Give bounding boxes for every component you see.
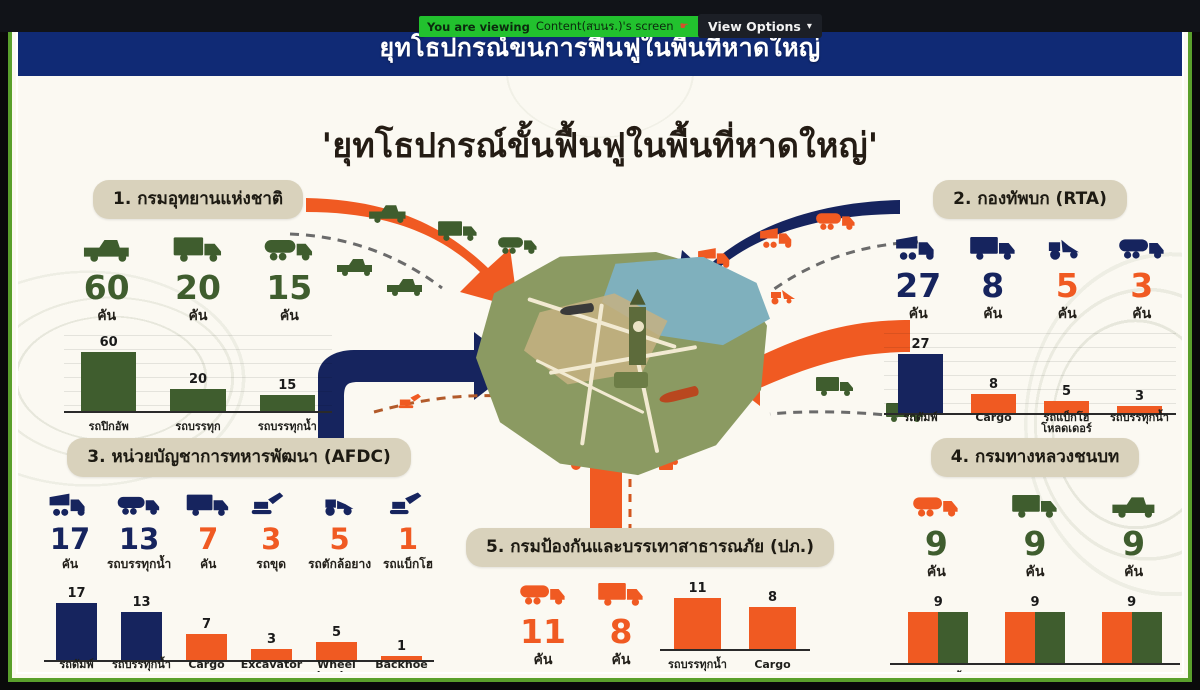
- vehicle-unit: คัน: [592, 649, 650, 671]
- panel-1: 1. กรมอุทยานแห่งชาติ 60 คัน 20 คัน 15 คั…: [64, 180, 332, 431]
- chart-bars: 118: [660, 581, 810, 651]
- vehicle-count: 1: [382, 525, 434, 554]
- panel-1-title: 1. กรมอุทยานแห่งชาติ: [93, 180, 303, 219]
- bar-column: 3: [251, 586, 291, 660]
- water-tanker-icon: [907, 489, 965, 519]
- dashed-trail-right-bottom: [770, 412, 898, 416]
- vehicle-cell: 1 รถแบ็กโฮ: [382, 489, 434, 574]
- bar: [186, 634, 226, 660]
- chart-xlabel: Cargo: [174, 659, 239, 674]
- vehicle-unit: คัน: [890, 303, 946, 325]
- panel-5-chart: 118 รถบรรทุกน้ำCargo: [660, 577, 810, 669]
- panel-4-chart: 999 รถบรรทุกน้ำรถบรรทุกรถปิกอัพ: [890, 591, 1180, 674]
- panel-3-vehicle-row: 17 คัน 13 รถบรรทุกน้ำ 7 คัน 3 รถขุด 5: [44, 489, 434, 574]
- chart-xlabel: รถบรรทุกน้ำ: [243, 421, 332, 433]
- excavator-icon: [399, 394, 421, 408]
- bar-value-label: 7: [202, 617, 211, 632]
- vehicle-unit: คัน: [182, 555, 234, 574]
- panel-3-title: 3. หน่วยบัญชาการทหารพัฒนา (AFDC): [67, 438, 411, 477]
- vehicle-count: 13: [107, 525, 171, 554]
- vehicle-unit: รถตักล้อยาง: [308, 555, 371, 574]
- bar-value-label: 5: [332, 625, 341, 640]
- chart-xlabel: รถดัมพ์: [44, 659, 109, 674]
- vehicle-count: 60: [76, 271, 138, 304]
- vehicle-count: 17: [44, 525, 96, 554]
- vehicle-unit: คัน: [1114, 303, 1170, 325]
- bar-value-label: 3: [1135, 389, 1144, 404]
- bar-value-label: 8: [768, 590, 777, 605]
- vehicle-unit: คัน: [1039, 303, 1095, 325]
- chart-xlabel: รถปิกอัพ: [64, 421, 153, 433]
- panel-2-chart: 27853 รถดัมพ์Cargoรถแบ็กโฮโหลดเดอร์รถบรร…: [884, 333, 1176, 433]
- clock-tower-icon: [629, 307, 646, 365]
- pickup-truck-icon: [369, 205, 405, 223]
- water-tanker-icon: [1114, 231, 1170, 261]
- chart-xlabel: Backhoe: [369, 659, 434, 674]
- viewing-target-label: Content(สบนร.)'s screen: [536, 18, 674, 36]
- chart-xlabel: รถบรรทุก: [153, 421, 242, 433]
- box-truck-icon: [1006, 489, 1064, 519]
- vehicle-cell: 5 รถตักล้อยาง: [308, 489, 371, 574]
- vehicle-count: 5: [1039, 269, 1095, 302]
- panel-1-chart: 602015 รถปิกอัพรถบรรทุกรถบรรทุกน้ำ: [64, 335, 332, 431]
- chart-xlabel: รถปิกอัพ: [1083, 673, 1180, 674]
- panel-2: 2. กองทัพบก (RTA) 27 คัน 8 คัน 5 คัน 3 ค…: [884, 180, 1176, 433]
- panel-4: 4. กรมทางหลวงชนบท 9 คัน 9 คัน 9 คัน 999 …: [890, 438, 1180, 674]
- vehicle-cell: 8 คัน: [965, 231, 1021, 325]
- chart-xlabel: รถบรรทุกน้ำ: [109, 659, 174, 674]
- vehicle-cell: 17 คัน: [44, 489, 96, 574]
- vehicle-count: 20: [167, 271, 229, 304]
- screen-share-icon: ☛: [680, 21, 689, 32]
- chart-bars: 602015: [64, 335, 332, 413]
- cargo-truck-icon: [965, 231, 1021, 261]
- clock-face-icon: [633, 321, 644, 332]
- screen-share-banner: You are viewing Content(สบนร.)'s screen …: [419, 16, 744, 37]
- view-options-label: View Options: [708, 19, 801, 34]
- vehicle-cell: 60 คัน: [76, 231, 138, 327]
- bar-column: 5: [316, 586, 356, 660]
- vehicle-cell: 3 คัน: [1114, 231, 1170, 325]
- vehicle-unit: คัน: [76, 305, 138, 327]
- vehicle-unit: คัน: [907, 561, 965, 583]
- chart-bars: 27853: [884, 337, 1176, 415]
- bar-value-label: 3: [267, 632, 276, 647]
- bar-value-label: 60: [100, 335, 118, 350]
- bar: [1005, 612, 1065, 663]
- vehicle-unit: คัน: [258, 305, 320, 327]
- bar-value-label: 9: [1030, 595, 1039, 610]
- panel-2-vehicle-row: 27 คัน 8 คัน 5 คัน 3 คัน: [884, 231, 1176, 325]
- zoom-meeting-toolbar: You are viewing Content(สบนร.)'s screen …: [0, 0, 1200, 32]
- bar-value-label: 1: [397, 639, 406, 654]
- slide-canvas: ยุทโธปกรณ์ขนการฟื้นฟูในพื้นที่หาดใหญ่ 'ย…: [16, 18, 1184, 674]
- shared-slide: ยุทโธปกรณ์ขนการฟื้นฟูในพื้นที่หาดใหญ่ 'ย…: [8, 10, 1192, 682]
- chart-xlabel: รถบรรทุกน้ำ: [1103, 412, 1176, 435]
- bar-column: 60: [81, 335, 136, 411]
- bar-value-label: 8: [989, 377, 998, 392]
- water-tanker-icon: [514, 577, 572, 607]
- panel-4-vehicle-row: 9 คัน 9 คัน 9 คัน: [890, 489, 1180, 583]
- chart-xlabels: รถดัมพ์รถบรรทุกน้ำCargoExcavatorWheel lo…: [44, 659, 434, 674]
- bar-column: 7: [186, 586, 226, 660]
- chart-xlabels: รถบรรทุกน้ำCargo: [660, 659, 810, 671]
- pickup-truck-icon: [1105, 489, 1163, 519]
- box-truck-icon: [592, 577, 650, 607]
- bar-value-label: 20: [189, 372, 207, 387]
- bar-value-label: 5: [1062, 384, 1071, 399]
- vehicle-cell: 13 รถบรรทุกน้ำ: [107, 489, 171, 574]
- pickup-truck-icon: [76, 231, 138, 263]
- bar-column: 1: [381, 586, 421, 660]
- panel-2-title: 2. กองทัพบก (RTA): [933, 180, 1127, 219]
- box-truck-icon: [438, 221, 476, 241]
- vehicle-unit: คัน: [514, 649, 572, 671]
- water-tanker-icon: [113, 489, 165, 517]
- chart-xlabel: รถแบ็กโฮโหลดเดอร์: [1030, 412, 1103, 435]
- pickup-truck-icon: [387, 279, 422, 296]
- vehicle-count: 11: [514, 615, 572, 648]
- panel-3: 3. หน่วยบัญชาการทหารพัฒนา (AFDC) 17 คัน …: [44, 438, 434, 674]
- vehicle-unit: รถแบ็กโฮ: [382, 555, 434, 574]
- bar-value-label: 27: [911, 337, 929, 352]
- vehicle-count: 3: [1114, 269, 1170, 302]
- box-truck-icon: [167, 231, 229, 263]
- bar-column: 8: [749, 581, 796, 649]
- chart-xlabel: Cargo: [735, 659, 810, 671]
- bar-column: 9: [1005, 595, 1065, 663]
- chevron-down-icon: ▾: [807, 21, 812, 32]
- vehicle-cell: 11 คัน: [514, 577, 572, 671]
- bar-value-label: 9: [934, 595, 943, 610]
- vehicle-cell: 5 คัน: [1039, 231, 1095, 325]
- vehicle-unit: รถขุด: [245, 555, 297, 574]
- vehicle-cell: 3 รถขุด: [245, 489, 297, 574]
- chart-xlabels: รถดัมพ์Cargoรถแบ็กโฮโหลดเดอร์รถบรรทุกน้ำ: [884, 412, 1176, 435]
- chart-xlabel: รถบรรทุกน้ำ: [890, 673, 987, 674]
- bar: [121, 612, 161, 660]
- chart-xlabel: Cargo: [957, 412, 1030, 435]
- bar: [81, 352, 136, 411]
- bar: [674, 598, 721, 649]
- clock-tower-base: [614, 372, 648, 388]
- vehicle-unit: คัน: [44, 555, 96, 574]
- vehicle-count: 3: [245, 525, 297, 554]
- chart-xlabels: รถบรรทุกน้ำรถบรรทุกรถปิกอัพ: [890, 673, 1180, 674]
- backhoe-loader-icon: [771, 290, 795, 305]
- wheel-loader-icon: [314, 489, 366, 517]
- bar: [260, 395, 315, 411]
- vehicle-unit: คัน: [1006, 561, 1064, 583]
- vehicle-count: 9: [1006, 527, 1064, 560]
- bar: [749, 607, 796, 649]
- backhoe-icon: [382, 489, 434, 517]
- bar-column: 11: [674, 581, 721, 649]
- view-options-button[interactable]: View Options ▾: [698, 14, 822, 38]
- vehicle-unit: รถบรรทุกน้ำ: [107, 555, 171, 574]
- vehicle-cell: 27 คัน: [890, 231, 946, 325]
- bar-column: 27: [898, 337, 943, 413]
- hatyai-isometric-map: [470, 252, 770, 482]
- vehicle-unit: คัน: [965, 303, 1021, 325]
- cargo-truck-icon: [182, 489, 234, 517]
- vehicle-cell: 9 คัน: [1006, 489, 1064, 583]
- dump-truck-icon: [890, 231, 946, 261]
- vehicle-count: 9: [907, 527, 965, 560]
- backhoe-loader-icon: [1039, 231, 1095, 261]
- bar: [170, 389, 225, 411]
- dump-truck-icon: [44, 489, 96, 517]
- bar-column: 9: [908, 595, 968, 663]
- vehicle-unit: คัน: [167, 305, 229, 327]
- bar: [1102, 612, 1162, 663]
- vehicle-count: 7: [182, 525, 234, 554]
- box-truck-icon: [816, 377, 853, 396]
- vehicle-unit: คัน: [1105, 561, 1163, 583]
- panel-5-title: 5. กรมป้องกันและบรรเทาสาธารณภัย (ปภ.): [466, 528, 834, 567]
- vehicle-count: 8: [965, 269, 1021, 302]
- bar-column: 17: [56, 586, 96, 660]
- water-tanker-icon: [816, 213, 854, 230]
- bar-column: 9: [1102, 595, 1162, 663]
- chart-xlabel: Wheel loader: [304, 659, 369, 674]
- vehicle-count: 5: [308, 525, 371, 554]
- bar: [898, 354, 943, 413]
- vehicle-cell: 15 คัน: [258, 231, 320, 327]
- chart-xlabels: รถปิกอัพรถบรรทุกรถบรรทุกน้ำ: [64, 421, 332, 433]
- vehicle-count: 9: [1105, 527, 1163, 560]
- viewing-prefix-label: You are viewing: [427, 20, 530, 34]
- slide-main-heading: 'ยุทโธปกรณ์ขั้นฟื้นฟูในพื้นที่หาดใหญ่': [18, 118, 1182, 172]
- chart-bars: 999: [890, 595, 1180, 665]
- chart-xlabel: รถบรรทุก: [987, 673, 1084, 674]
- dump-truck-icon: [760, 228, 791, 248]
- bar-value-label: 11: [688, 581, 706, 596]
- bar-value-label: 15: [278, 378, 296, 393]
- bar-column: 20: [170, 335, 225, 411]
- chart-xlabel: รถบรรทุกน้ำ: [660, 659, 735, 671]
- bar-value-label: 13: [132, 595, 150, 610]
- bar-column: 15: [260, 335, 315, 411]
- bar-column: 13: [121, 586, 161, 660]
- vehicle-cell: 20 คัน: [167, 231, 229, 327]
- bar-column: 3: [1117, 337, 1162, 413]
- vehicle-cell: 7 คัน: [182, 489, 234, 574]
- vehicle-cell: 9 คัน: [907, 489, 965, 583]
- chart-bars: 17137351: [44, 586, 434, 662]
- excavator-icon: [245, 489, 297, 517]
- bar: [908, 612, 968, 663]
- vehicle-count: 15: [258, 271, 320, 304]
- bar-column: 5: [1044, 337, 1089, 413]
- vehicle-count: 27: [890, 269, 946, 302]
- chart-xlabel: Excavator: [239, 659, 304, 674]
- water-tanker-icon: [258, 231, 320, 263]
- bar-value-label: 9: [1127, 595, 1136, 610]
- pickup-truck-icon: [337, 259, 372, 276]
- panel-5-vehicle-row: 11 คัน 8 คัน: [454, 577, 650, 671]
- bar-column: 8: [971, 337, 1016, 413]
- chart-xlabel: รถดัมพ์: [884, 412, 957, 435]
- panel-1-vehicle-row: 60 คัน 20 คัน 15 คัน: [64, 231, 332, 327]
- panel-5: 5. กรมป้องกันและบรรเทาสาธารณภัย (ปภ.) 11…: [454, 528, 846, 671]
- bar: [56, 603, 96, 660]
- vehicle-count: 8: [592, 615, 650, 648]
- panel-3-chart: 17137351 รถดัมพ์รถบรรทุกน้ำCargoExcavato…: [44, 582, 434, 674]
- vehicle-cell: 9 คัน: [1105, 489, 1163, 583]
- panel-4-title: 4. กรมทางหลวงชนบท: [931, 438, 1140, 477]
- bar-value-label: 17: [67, 586, 85, 601]
- vehicle-cell: 8 คัน: [592, 577, 650, 671]
